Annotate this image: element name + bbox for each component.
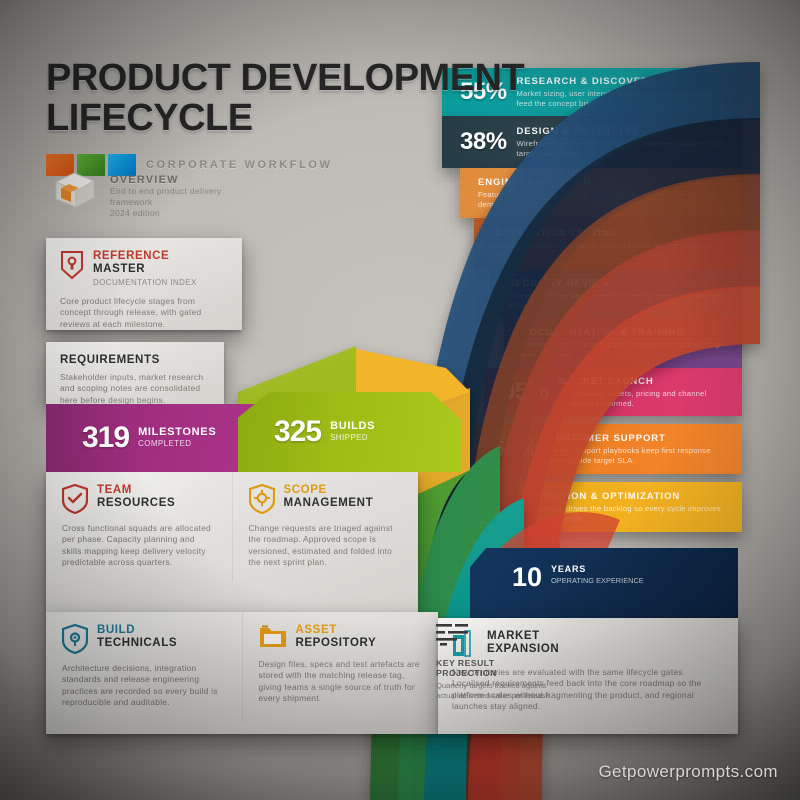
builds-banner-label: BUILDS bbox=[330, 420, 375, 432]
asset-repository-title-2: REPOSITORY bbox=[296, 637, 377, 649]
scope-management-title-1: SCOPE bbox=[284, 484, 374, 497]
scope-management-body: Change requests are triaged against the … bbox=[249, 523, 403, 569]
reference-card-body: Core product lifecycle stages from conce… bbox=[60, 296, 228, 330]
key-result-body: Quarterly targets tracked against actual… bbox=[436, 681, 556, 701]
reference-card-title: MASTER bbox=[93, 263, 145, 275]
experience-label: YEARS bbox=[551, 564, 644, 574]
build-technicals-title-1: BUILD bbox=[97, 624, 177, 637]
milestones-banner-number: 319 bbox=[82, 423, 129, 453]
requirements-card-body: Stakeholder inputs, market research and … bbox=[60, 372, 210, 406]
scope-management-title-2: MANAGEMENT bbox=[284, 497, 374, 509]
build-assets-panel: BUILD TECHNICALS Architecture decisions,… bbox=[46, 612, 438, 734]
requirements-card-title: REQUIREMENTS bbox=[60, 354, 210, 367]
bar-list-icon bbox=[436, 622, 556, 648]
bookmark-ribbon-icon bbox=[60, 250, 84, 280]
overview-line-2: framework bbox=[110, 197, 222, 208]
reference-card-subtitle: DOCUMENTATION INDEX bbox=[93, 278, 197, 287]
team-resources-title-2: RESOURCES bbox=[97, 497, 175, 509]
3d-box-icon bbox=[52, 170, 98, 210]
requirements-card[interactable]: REQUIREMENTS Stakeholder inputs, market … bbox=[46, 342, 224, 404]
builds-banner[interactable]: 325 BUILDS SHIPPED bbox=[238, 392, 462, 472]
reference-card-accent: REFERENCE bbox=[93, 250, 197, 263]
builds-banner-sublabel: SHIPPED bbox=[330, 432, 375, 444]
team-resources-title-1: TEAM bbox=[97, 484, 175, 497]
key-result-note: KEY RESULT PROJECTION Quarterly targets … bbox=[436, 622, 556, 701]
scope-management-card[interactable]: SCOPE MANAGEMENT Change requests are tri… bbox=[232, 472, 419, 581]
reference-card[interactable]: REFERENCE MASTER DOCUMENTATION INDEX Cor… bbox=[46, 238, 242, 330]
build-technicals-title-2: TECHNICALS bbox=[97, 637, 177, 649]
overview-note: OVERVIEW End to end product delivery fra… bbox=[52, 170, 222, 219]
overview-line-3: 2024 edition bbox=[110, 208, 222, 219]
experience-sublabel: OPERATING EXPERIENCE bbox=[551, 576, 644, 586]
team-resources-body: Cross functional squads are allocated pe… bbox=[62, 523, 216, 569]
experience-number: 10 bbox=[512, 564, 542, 591]
resources-panel: TEAM RESOURCES Cross functional squads a… bbox=[46, 472, 418, 612]
builds-banner-number: 325 bbox=[274, 417, 321, 447]
overview-heading: OVERVIEW bbox=[110, 174, 222, 186]
build-technicals-body: Architecture decisions, integration stan… bbox=[62, 663, 226, 709]
build-technicals-card[interactable]: BUILD TECHNICALS Architecture decisions,… bbox=[46, 612, 242, 721]
page-title-line-1: PRODUCT DEVELOPMENT bbox=[46, 58, 524, 98]
watermark: Getpowerprompts.com bbox=[598, 762, 778, 782]
key-result-heading: KEY RESULT PROJECTION bbox=[436, 658, 556, 678]
page-title-block: PRODUCT DEVELOPMENT LIFECYCLE CORPORATE … bbox=[46, 58, 524, 176]
infographic-canvas: PRODUCT DEVELOPMENT LIFECYCLE CORPORATE … bbox=[0, 0, 800, 800]
shield-gear-icon bbox=[249, 484, 275, 514]
milestones-banner-sublabel: COMPLETED bbox=[138, 438, 216, 450]
team-resources-card[interactable]: TEAM RESOURCES Cross functional squads a… bbox=[46, 472, 232, 581]
page-title-line-2: LIFECYCLE bbox=[46, 98, 524, 138]
asset-repository-card[interactable]: ASSET REPOSITORY Design files, specs and… bbox=[242, 612, 439, 721]
asset-repository-body: Design files, specs and test artefacts a… bbox=[259, 659, 423, 705]
folder-icon bbox=[259, 624, 287, 650]
asset-repository-title-1: ASSET bbox=[296, 624, 377, 637]
overview-line-1: End to end product delivery bbox=[110, 186, 222, 197]
shield-check-icon bbox=[62, 484, 88, 514]
shield-lock-icon bbox=[62, 624, 88, 654]
milestones-banner-label: MILESTONES bbox=[138, 426, 216, 438]
